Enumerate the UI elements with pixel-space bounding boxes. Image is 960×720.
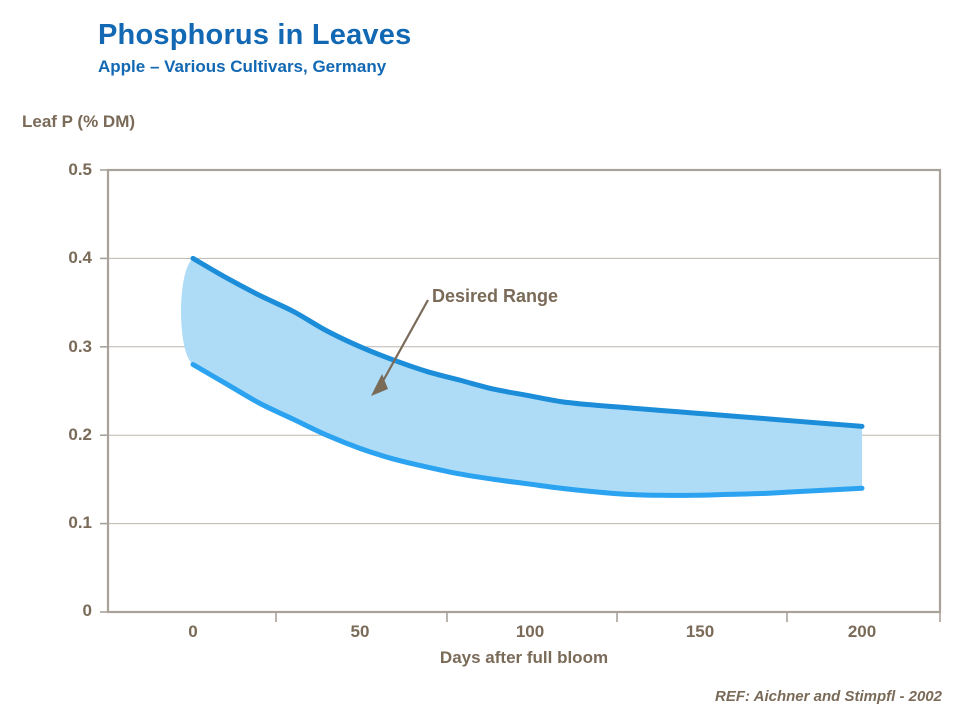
y-tick-label-0.4: 0.4 [40,248,92,268]
chart-plot-area [0,0,960,720]
y-tick-label-0.1: 0.1 [40,513,92,533]
y-tick-label-0.3: 0.3 [40,337,92,357]
chart-svg [0,0,960,720]
x-axis-title: Days after full bloom [108,648,940,668]
reference-note: REF: Aichner and Stimpfl - 2002 [715,688,942,705]
x-tick-label-150: 150 [670,622,730,642]
slide-root: Phosphorus in Leaves Apple – Various Cul… [0,0,960,720]
y-tick-marks [100,170,108,612]
y-tick-label-0: 0 [40,601,92,621]
y-tick-label-0.5: 0.5 [40,160,92,180]
y-tick-label-0.2: 0.2 [40,425,92,445]
x-tick-label-50: 50 [330,622,390,642]
x-tick-label-100: 100 [500,622,560,642]
desired-range-annotation: Desired Range [432,286,558,307]
x-tick-marks [276,612,940,622]
x-tick-label-200: 200 [832,622,892,642]
x-tick-label-0: 0 [163,622,223,642]
plot-background [108,170,940,612]
